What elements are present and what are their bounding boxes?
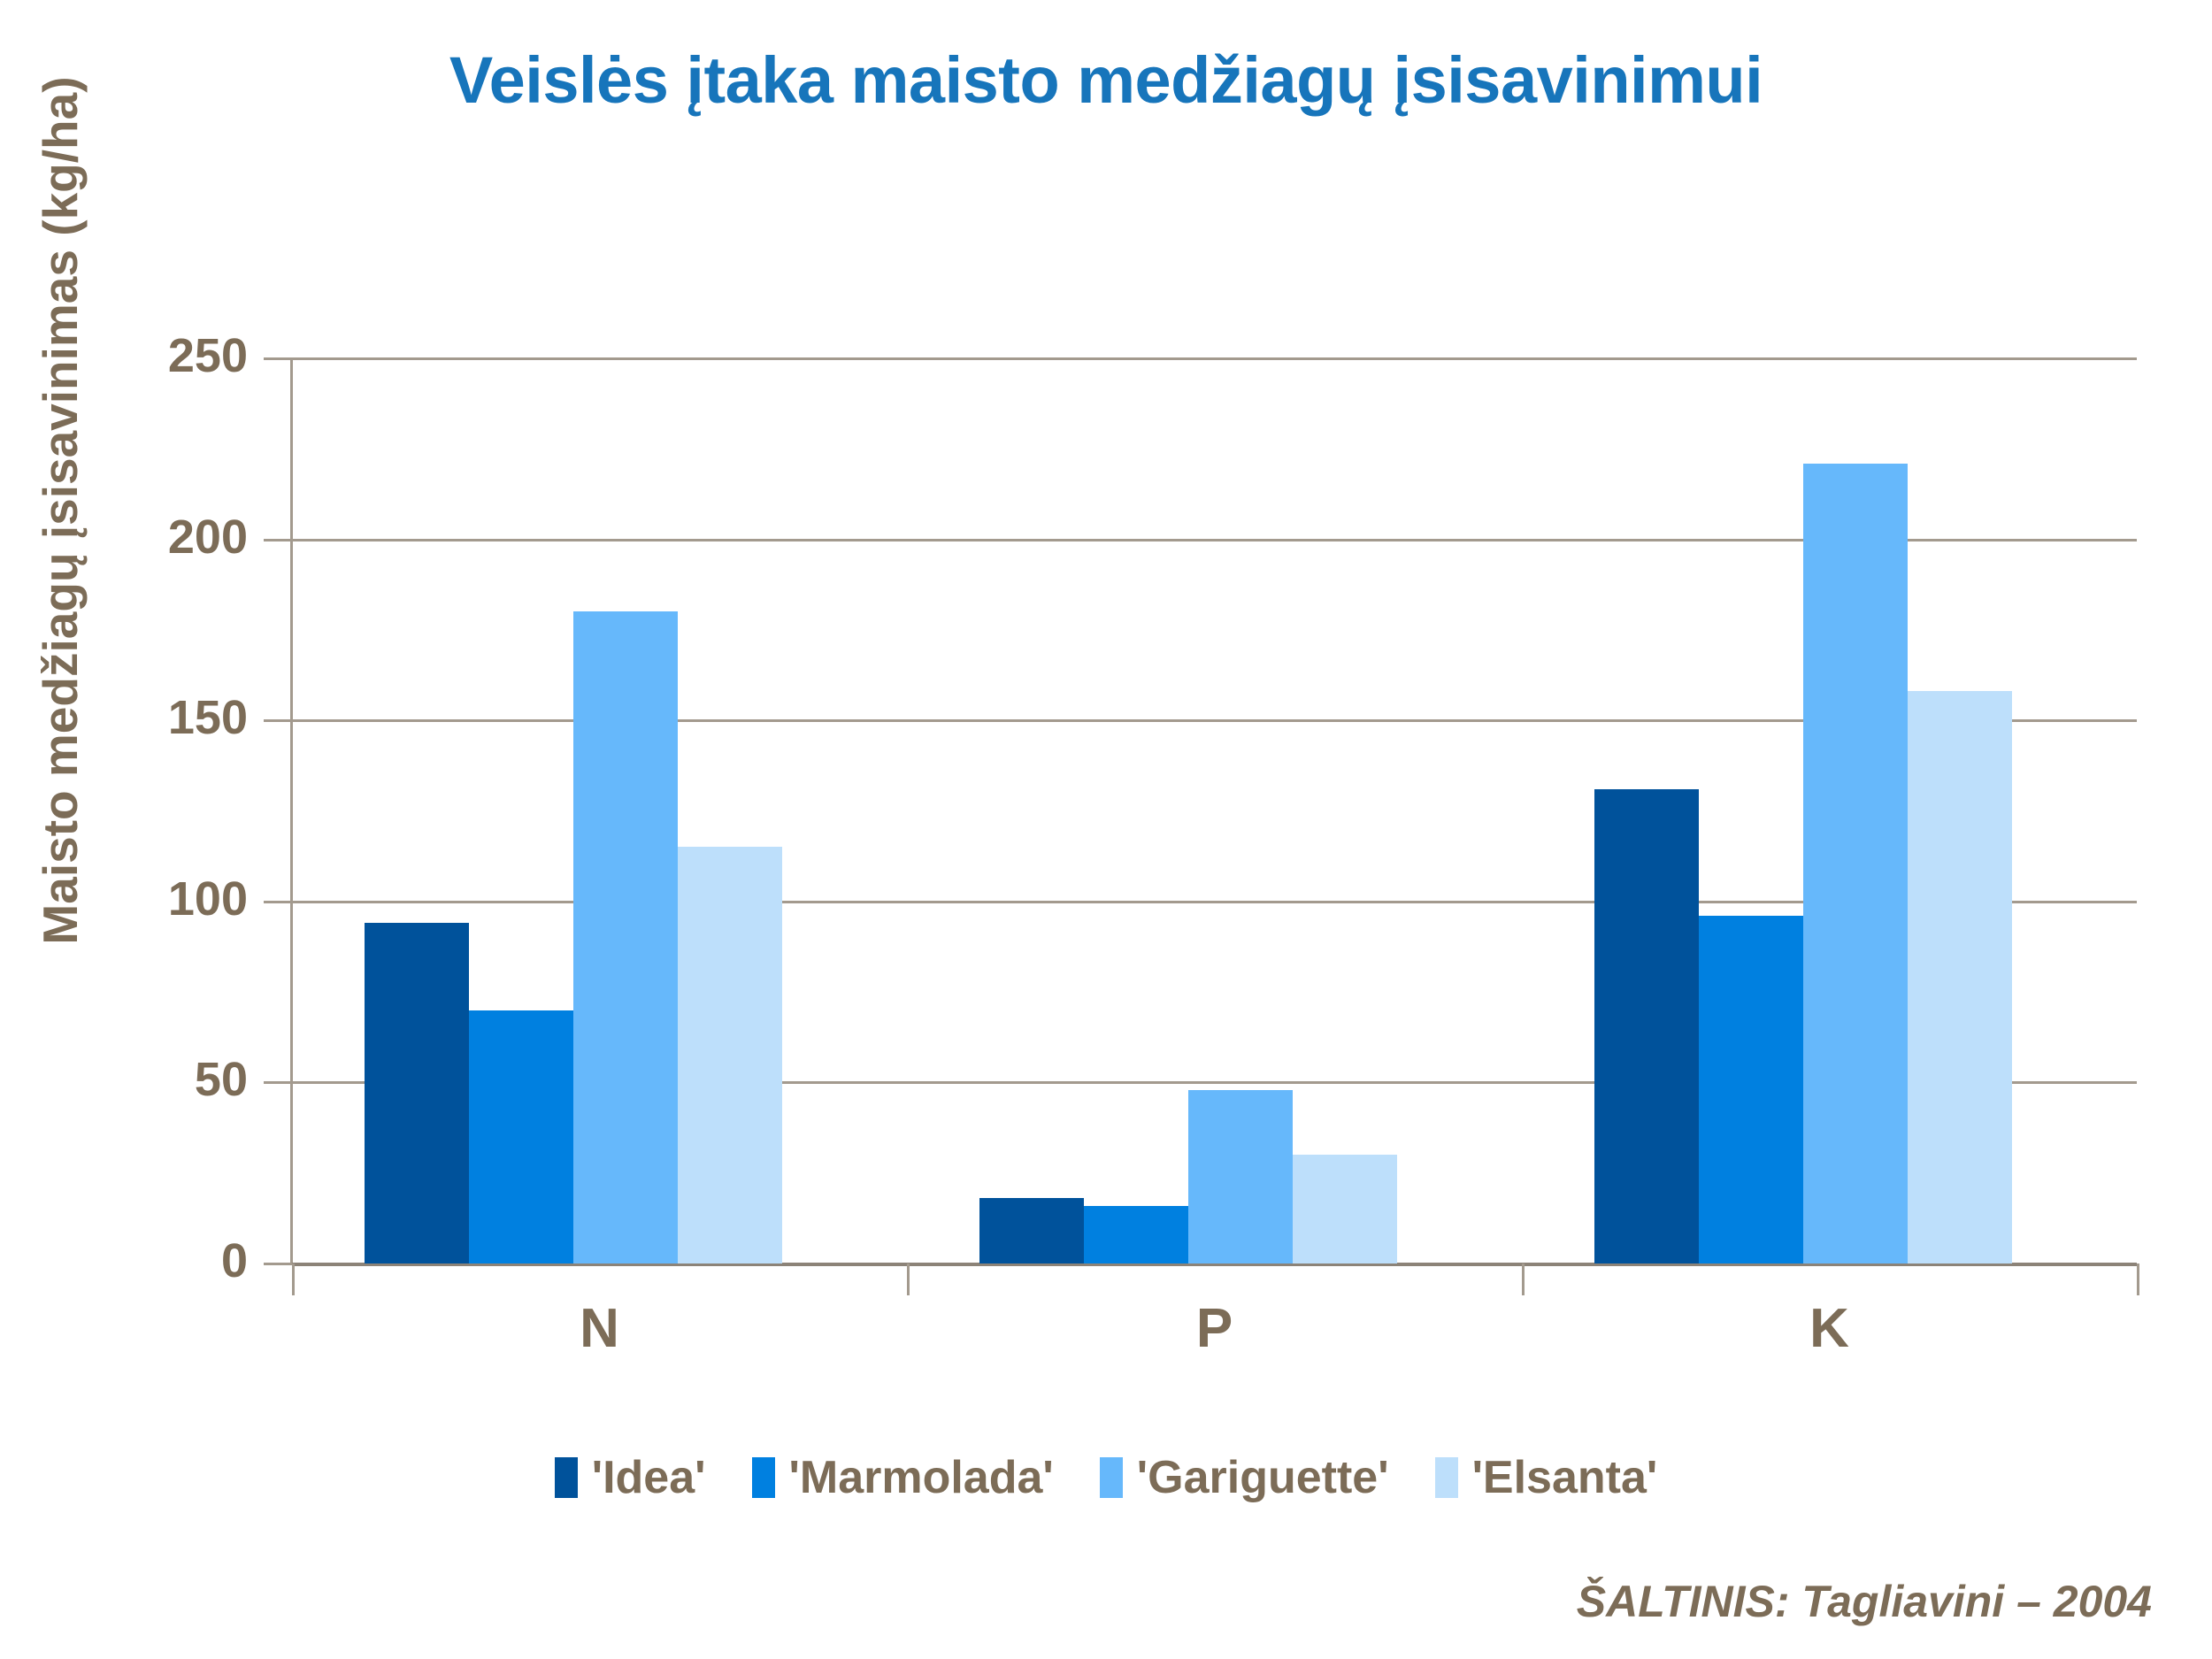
y-tick-mark-0	[264, 1263, 292, 1265]
y-tick-mark-250	[264, 357, 292, 360]
gridline-250	[292, 357, 2137, 360]
legend-label-3: 'Elsanta'	[1472, 1451, 1658, 1504]
legend-label-1: 'Marmolada'	[789, 1451, 1054, 1504]
bar-P-0[interactable]	[979, 1198, 1084, 1263]
bar-K-0[interactable]	[1594, 789, 1699, 1263]
x-axis-label-K: K	[1741, 1297, 1918, 1360]
bar-N-0[interactable]	[365, 923, 469, 1263]
bar-P-2[interactable]	[1188, 1090, 1293, 1263]
legend-swatch-icon-1	[752, 1457, 775, 1498]
y-tick-label-200: 200	[106, 510, 248, 565]
y-tick-mark-100	[264, 901, 292, 903]
bar-P-3[interactable]	[1293, 1155, 1397, 1263]
legend-swatch-icon-0	[555, 1457, 578, 1498]
legend-item-3[interactable]: 'Elsanta'	[1435, 1451, 1658, 1504]
x-axis-separator-end	[2137, 1263, 2139, 1295]
bar-K-3[interactable]	[1908, 691, 2012, 1263]
y-tick-label-0: 0	[106, 1233, 248, 1288]
x-axis-separator-start	[292, 1263, 295, 1295]
y-tick-label-250: 250	[106, 328, 248, 383]
bar-N-1[interactable]	[469, 1010, 573, 1263]
bar-K-1[interactable]	[1699, 916, 1803, 1263]
y-tick-mark-50	[264, 1081, 292, 1084]
legend-item-0[interactable]: 'Idea'	[555, 1451, 706, 1504]
legend-item-2[interactable]: 'Gariguette'	[1100, 1451, 1389, 1504]
y-tick-label-50: 50	[106, 1052, 248, 1107]
x-axis-label-P: P	[1126, 1297, 1303, 1360]
legend-item-1[interactable]: 'Marmolada'	[752, 1451, 1054, 1504]
y-tick-label-150: 150	[106, 690, 248, 745]
x-axis-label-N: N	[511, 1297, 688, 1360]
source-note: ŠALTINIS: Tagliavini – 2004	[1577, 1576, 2152, 1627]
bar-N-2[interactable]	[573, 611, 678, 1263]
y-axis-title: Maisto medžiagų įsisavinimas (kg/ha)	[32, 42, 88, 979]
chart-legend: 'Idea''Marmolada''Gariguette''Elsanta'	[0, 1451, 2212, 1504]
legend-label-2: 'Gariguette'	[1137, 1451, 1389, 1504]
plot-area	[292, 358, 2137, 1263]
bar-K-2[interactable]	[1803, 464, 1908, 1263]
bar-N-3[interactable]	[678, 847, 782, 1263]
legend-label-0: 'Idea'	[592, 1451, 706, 1504]
y-tick-mark-150	[264, 719, 292, 722]
y-tick-mark-200	[264, 539, 292, 541]
y-tick-label-100: 100	[106, 872, 248, 926]
bar-P-1[interactable]	[1084, 1206, 1188, 1263]
x-axis-separator-1	[907, 1263, 910, 1295]
legend-swatch-icon-3	[1435, 1457, 1458, 1498]
legend-swatch-icon-2	[1100, 1457, 1123, 1498]
chart-title: Veislės įtaka maisto medžiagų įsisavinim…	[0, 42, 2212, 118]
x-axis-separator-2	[1522, 1263, 1525, 1295]
